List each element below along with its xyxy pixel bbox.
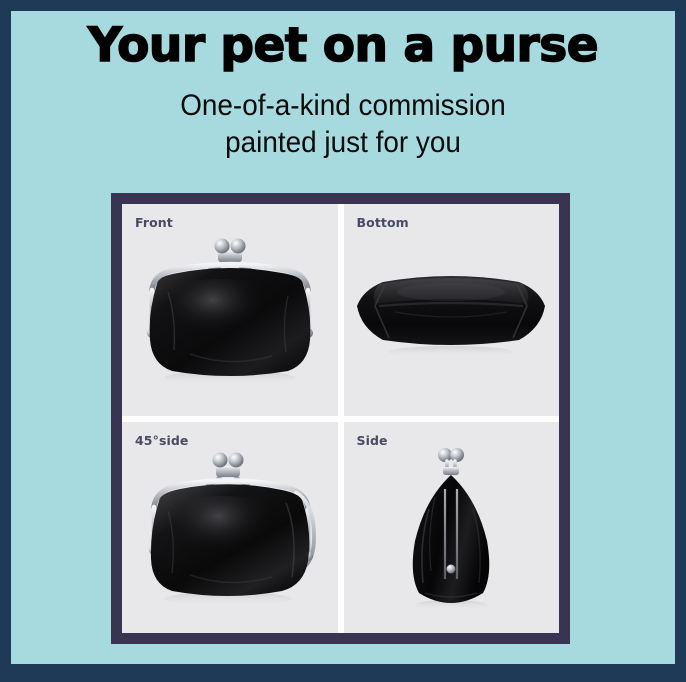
page-title: Your pet on a purse	[11, 17, 675, 75]
purse-angle-icon	[122, 422, 338, 634]
panel-bottom[interactable]: Bottom	[344, 204, 560, 416]
purse-side-icon	[344, 422, 560, 634]
poster-root: Your pet on a purse One-of-a-kind commis…	[0, 0, 686, 682]
panel-side[interactable]: Side	[344, 422, 560, 634]
headline-block: Your pet on a purse One-of-a-kind commis…	[11, 11, 675, 161]
clasp-ball-right	[230, 238, 245, 253]
clasp-ball-left	[214, 238, 229, 253]
page-subtitle: One-of-a-kind commission painted just fo…	[34, 87, 652, 161]
product-grid-card: Front	[111, 193, 570, 644]
purse-front-icon	[122, 204, 338, 416]
subtitle-line-1: One-of-a-kind commission	[34, 87, 652, 124]
poster-canvas: Your pet on a purse One-of-a-kind commis…	[11, 11, 675, 664]
product-grid: Front	[122, 204, 559, 633]
panel-label-angle: 45°side	[135, 433, 189, 448]
purse-bottom-icon	[344, 204, 560, 416]
panel-front[interactable]: Front	[122, 204, 338, 416]
panel-label-side: Side	[357, 433, 388, 448]
panel-angle[interactable]: 45°side	[122, 422, 338, 634]
panel-label-bottom: Bottom	[357, 215, 409, 230]
subtitle-line-2: painted just for you	[34, 124, 652, 161]
panel-label-front: Front	[135, 215, 173, 230]
